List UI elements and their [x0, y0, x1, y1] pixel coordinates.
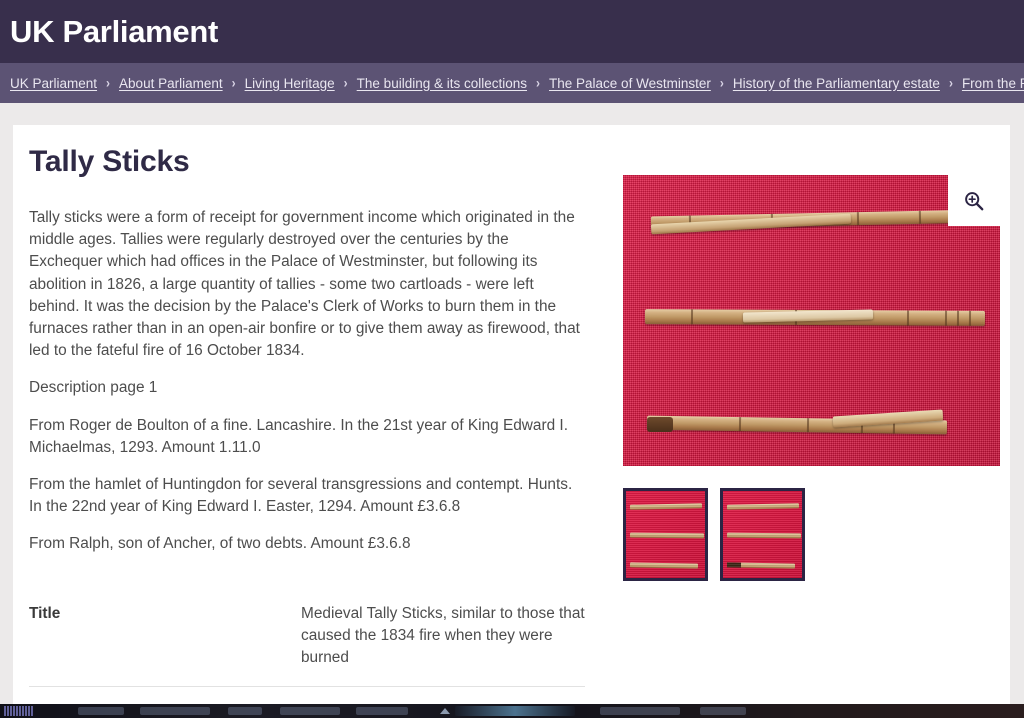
paragraph-intro: Tally sticks were a form of receipt for … [29, 207, 585, 362]
hero-image-tally-sticks[interactable] [623, 175, 1000, 466]
chevron-right-icon: › [536, 75, 540, 91]
taskbar-item[interactable] [600, 707, 680, 715]
breadcrumb-item-from-the-palace[interactable]: From the Pa [962, 76, 1024, 91]
chevron-right-icon: › [720, 75, 724, 91]
chevron-right-icon: › [344, 75, 348, 91]
breadcrumb-item-uk-parliament[interactable]: UK Parliament [10, 76, 97, 91]
taskbar-item[interactable] [356, 707, 408, 715]
browser-viewport: UK Parliament UK Parliament › About Parl… [0, 0, 1024, 718]
breadcrumb-item-living-heritage[interactable]: Living Heritage [245, 76, 335, 91]
breadcrumb: UK Parliament › About Parliament › Livin… [0, 63, 1024, 103]
content-card: Tally Sticks Tally sticks were a form of… [13, 125, 1010, 705]
taskbar-item[interactable] [140, 707, 210, 715]
detail-divider [29, 686, 585, 687]
taskbar-item[interactable] [78, 707, 124, 715]
thumbnail-1[interactable] [623, 488, 708, 581]
taskbar-item[interactable] [280, 707, 340, 715]
page-title: Tally Sticks [29, 145, 189, 179]
paragraph-description-heading: Description page 1 [29, 377, 585, 399]
breadcrumb-item-palace-of-westminster[interactable]: The Palace of Westminster [549, 76, 711, 91]
taskbar-caret-icon[interactable] [440, 708, 450, 714]
thumbnail-2[interactable] [720, 488, 805, 581]
taskbar-launcher-icons[interactable] [4, 706, 33, 716]
tally-stick-charred-tip [647, 417, 673, 432]
detail-value-title: Medieval Tally Sticks, similar to those … [301, 603, 585, 670]
breadcrumb-item-about-parliament[interactable]: About Parliament [119, 76, 223, 91]
site-header: UK Parliament [0, 0, 1024, 63]
detail-label-title: Title [29, 603, 301, 670]
chevron-right-icon: › [949, 75, 953, 91]
breadcrumb-item-history-estate[interactable]: History of the Parliamentary estate [733, 76, 940, 91]
taskbar-item[interactable] [228, 707, 262, 715]
breadcrumb-item-building-collections[interactable]: The building & its collections [357, 76, 527, 91]
taskbar-item[interactable] [700, 707, 746, 715]
paragraph-entry-3: From Ralph, son of Ancher, of two debts.… [29, 533, 585, 555]
taskbar-active-window[interactable] [455, 706, 575, 716]
paragraph-entry-1: From Roger de Boulton of a fine. Lancash… [29, 415, 585, 459]
chevron-right-icon: › [106, 75, 110, 91]
image-gallery [623, 175, 1000, 466]
detail-row-title: Title Medieval Tally Sticks, similar to … [29, 603, 585, 670]
thumbnail-strip [623, 488, 805, 581]
os-taskbar[interactable] [0, 704, 1024, 718]
hero-image-wrapper[interactable] [623, 175, 1000, 466]
magnifier-plus-icon[interactable] [948, 175, 1000, 226]
paragraph-entry-2: From the hamlet of Huntingdon for severa… [29, 474, 585, 518]
article-body: Tally sticks were a form of receipt for … [29, 207, 585, 571]
chevron-right-icon: › [232, 75, 236, 91]
site-title: UK Parliament [0, 16, 218, 47]
